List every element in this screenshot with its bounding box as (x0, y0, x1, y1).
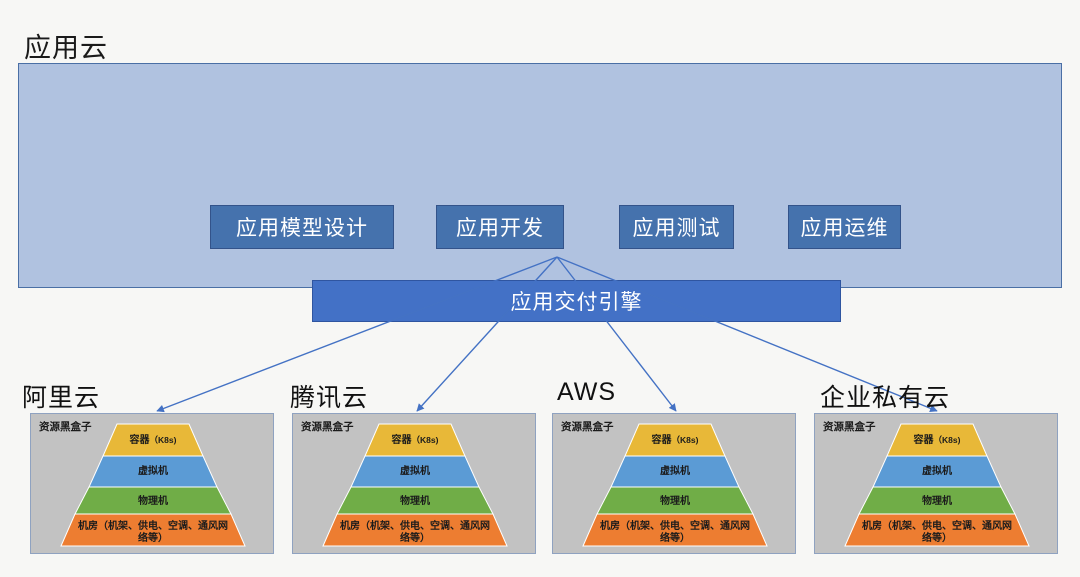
pyramid-layer-vm (351, 456, 479, 487)
capability-app-operations[interactable]: 应用运维 (788, 205, 901, 249)
pyramid-layer-datacenter (323, 514, 507, 546)
capability-app-model-design[interactable]: 应用模型设计 (210, 205, 394, 249)
capability-app-testing[interactable]: 应用测试 (619, 205, 734, 249)
pyramid-layer-datacenter (583, 514, 767, 546)
application-delivery-engine[interactable]: 应用交付引擎 (312, 280, 841, 322)
resource-pyramid (293, 414, 537, 555)
resource-pyramid (553, 414, 797, 555)
resource-stack-card-private-cloud: 资源黑盒子 容器（K8s) 虚拟机 物理机 机房（机架、供电、空调、通风网络等） (814, 413, 1058, 554)
pyramid-layer-physical (597, 487, 753, 514)
pyramid-layer-vm (611, 456, 739, 487)
provider-label-aliyun: 阿里云 (22, 378, 100, 414)
provider-label-tencent: 腾讯云 (290, 378, 368, 414)
capability-app-development[interactable]: 应用开发 (436, 205, 564, 249)
resource-stack-card-tencent: 资源黑盒子 容器（K8s) 虚拟机 物理机 机房（机架、供电、空调、通风网络等） (292, 413, 536, 554)
pyramid-layer-datacenter (61, 514, 245, 546)
provider-label-aws: AWS (557, 378, 616, 407)
pyramid-layer-physical (337, 487, 493, 514)
provider-label-private: 企业私有云 (820, 378, 950, 414)
pyramid-layer-container (365, 424, 465, 456)
pyramid-layer-container (887, 424, 987, 456)
pyramid-layer-vm (89, 456, 217, 487)
application-cloud-panel: 应用模型设计 应用开发 应用测试 应用运维 应用交付引擎 (18, 63, 1062, 288)
pyramid-layer-vm (873, 456, 1001, 487)
pyramid-layer-container (625, 424, 725, 456)
resource-pyramid (815, 414, 1059, 555)
pyramid-layer-physical (75, 487, 231, 514)
pyramid-layer-physical (859, 487, 1015, 514)
pyramid-layer-datacenter (845, 514, 1029, 546)
resource-stack-card-aliyun: 资源黑盒子 容器（K8s) 虚拟机 物理机 机房（机架、供电、空调、通风网络等） (30, 413, 274, 554)
resource-stack-card-aws: 资源黑盒子 容器（K8s) 虚拟机 物理机 机房（机架、供电、空调、通风网络等） (552, 413, 796, 554)
resource-pyramid (31, 414, 275, 555)
pyramid-layer-container (103, 424, 203, 456)
page-title: 应用云 (24, 26, 108, 65)
